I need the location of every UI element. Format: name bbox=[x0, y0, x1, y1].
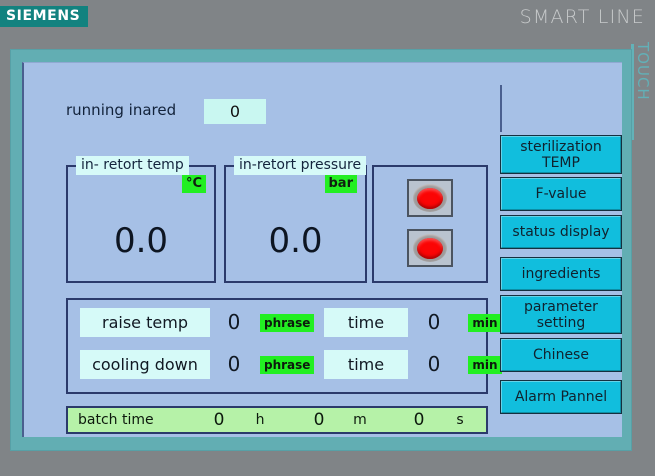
phase-time-value-cooling-down[interactable]: 0 bbox=[416, 350, 452, 379]
phase-row-raise-temp: raise temp 0 phrase time 0 min bbox=[68, 308, 486, 342]
phase-count-cooling-down[interactable]: 0 bbox=[216, 350, 252, 379]
button-parameter-setting[interactable]: parameter setting bbox=[500, 295, 622, 334]
batch-time-label: batch time bbox=[78, 408, 154, 432]
phase-settings-panel: raise temp 0 phrase time 0 min cooling d… bbox=[66, 298, 488, 394]
in-retort-pressure-value: 0.0 bbox=[226, 221, 365, 261]
phase-unit-badge-raise-temp: phrase bbox=[260, 314, 314, 332]
lamp-bezel-icon bbox=[413, 184, 447, 212]
button-status-display[interactable]: status display bbox=[500, 215, 622, 249]
batch-time-bar: batch time 0 h 0 m 0 s bbox=[66, 406, 488, 434]
indicator-lamp-2[interactable] bbox=[407, 229, 453, 267]
indicator-lamp-group bbox=[372, 165, 488, 283]
batch-time-seconds-unit: s bbox=[450, 408, 470, 432]
batch-time-hours-unit: h bbox=[250, 408, 270, 432]
temp-unit-badge: °C bbox=[182, 175, 206, 193]
button-f-value[interactable]: F-value bbox=[500, 177, 622, 211]
phase-time-label-cooling-down[interactable]: time bbox=[324, 350, 408, 379]
phase-name-cooling-down[interactable]: cooling down bbox=[80, 350, 210, 379]
blank-status-panel bbox=[500, 85, 620, 132]
phase-count-raise-temp[interactable]: 0 bbox=[216, 308, 252, 337]
phase-row-cooling-down: cooling down 0 phrase time 0 min bbox=[68, 350, 486, 384]
running-ingredient-label: running inared bbox=[66, 101, 176, 119]
in-retort-temp-group: in- retort temp °C 0.0 bbox=[66, 165, 216, 283]
lamp-red-icon bbox=[417, 188, 443, 209]
touch-panel-label: TOUCH bbox=[632, 42, 654, 142]
button-ingredients[interactable]: ingredients bbox=[500, 257, 622, 291]
running-ingredient-value[interactable]: 0 bbox=[204, 99, 266, 124]
batch-time-minutes: 0 bbox=[304, 408, 334, 432]
hmi-display-area: running inared 0 in- retort temp °C 0.0 … bbox=[22, 62, 622, 437]
in-retort-pressure-group: in-retort pressure bar 0.0 bbox=[224, 165, 367, 283]
batch-time-minutes-unit: m bbox=[350, 408, 370, 432]
phase-time-value-raise-temp[interactable]: 0 bbox=[416, 308, 452, 337]
navigation-button-column: sterilization TEMP F-value status displa… bbox=[494, 85, 620, 433]
button-chinese[interactable]: Chinese bbox=[500, 338, 622, 372]
brand-bar: SIEMENS SMART LINE bbox=[0, 0, 655, 32]
product-line-label: SMART LINE bbox=[520, 5, 645, 29]
lamp-red-icon bbox=[417, 238, 443, 259]
phase-time-label-raise-temp[interactable]: time bbox=[324, 308, 408, 337]
in-retort-temp-value: 0.0 bbox=[68, 221, 214, 261]
phase-unit-badge-cooling-down: phrase bbox=[260, 356, 314, 374]
batch-time-seconds: 0 bbox=[404, 408, 434, 432]
process-work-area: running inared 0 in- retort temp °C 0.0 … bbox=[24, 63, 479, 438]
pressure-unit-badge: bar bbox=[325, 175, 358, 193]
lamp-bezel-icon bbox=[413, 234, 447, 262]
indicator-lamp-1[interactable] bbox=[407, 179, 453, 217]
button-sterilization-temp[interactable]: sterilization TEMP bbox=[500, 135, 622, 174]
running-ingredient-row: running inared 0 bbox=[66, 99, 316, 125]
screen-frame: running inared 0 in- retort temp °C 0.0 … bbox=[10, 49, 632, 451]
button-alarm-pannel[interactable]: Alarm Pannel bbox=[500, 380, 622, 414]
batch-time-hours: 0 bbox=[204, 408, 234, 432]
in-retort-pressure-legend: in-retort pressure bbox=[234, 156, 366, 175]
hmi-panel-bezel: SIEMENS SMART LINE TOUCH running inared … bbox=[0, 0, 655, 476]
in-retort-temp-legend: in- retort temp bbox=[76, 156, 189, 175]
phase-name-raise-temp[interactable]: raise temp bbox=[80, 308, 210, 337]
siemens-logo: SIEMENS bbox=[0, 6, 88, 27]
